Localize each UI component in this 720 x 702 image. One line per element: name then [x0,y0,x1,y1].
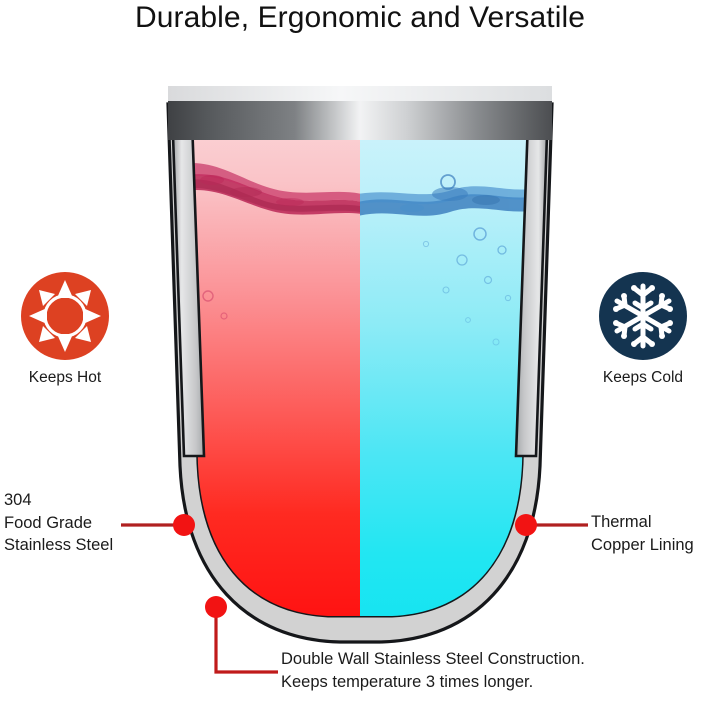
callout-copper-lining-line-2: Copper Lining [591,534,694,557]
tumbler-liquid [180,124,542,624]
callout-copper-lining: Thermal Copper Lining [591,511,694,556]
callout-stainless-steel-line-1: 304 [4,489,113,512]
callout-stainless-steel-line-3: Stainless Steel [4,534,113,557]
tumbler-rim-metallic-band [168,100,552,140]
callout-double-wall: Double Wall Stainless Steel Construction… [281,648,585,693]
badge-keeps-cold: Keeps Cold [578,272,708,387]
callout-stainless-steel: 304 Food Grade Stainless Steel [4,489,113,557]
badge-keeps-hot: Keeps Hot [0,272,130,387]
keeps-cold-label: Keeps Cold [578,368,708,387]
tumbler-illustration [150,84,570,644]
keeps-hot-circle [21,272,109,360]
snowflake-icon [599,272,687,360]
keeps-hot-label: Keeps Hot [0,368,130,387]
callout-double-wall-line-2: Keeps temperature 3 times longer. [281,671,585,694]
sun-icon [21,272,109,360]
tumbler-svg [150,84,570,644]
product-infographic: Durable, Ergonomic and Versatile [0,0,720,702]
tumbler-rim-top-strip [168,86,552,101]
callout-copper-lining-line-1: Thermal [591,511,694,534]
callout-double-wall-line-1: Double Wall Stainless Steel Construction… [281,648,585,671]
keeps-cold-circle [599,272,687,360]
page-title: Durable, Ergonomic and Versatile [0,0,720,36]
callout-stainless-steel-line-2: Food Grade [4,512,113,535]
